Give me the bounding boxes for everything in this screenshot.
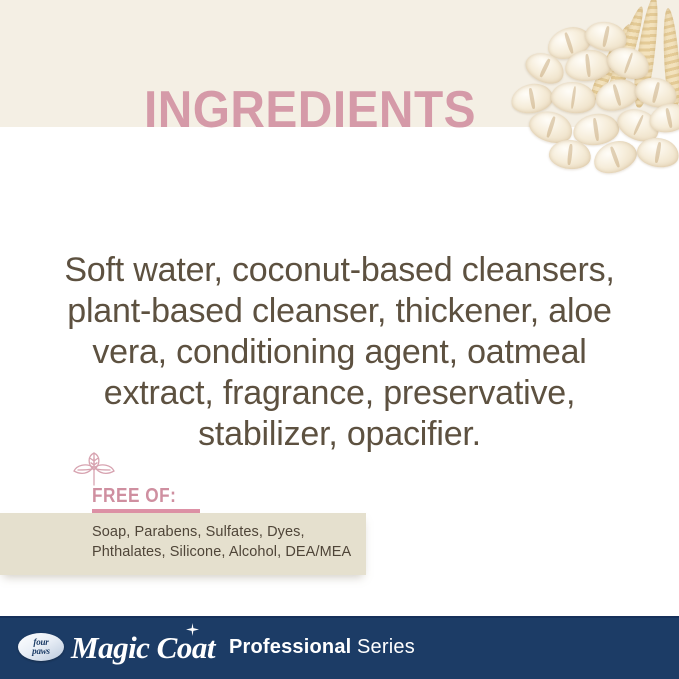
ingredients-body-text: Soft water, coconut-based cleansers, pla…: [34, 250, 645, 455]
four-paws-logo-text: four paws: [32, 638, 50, 656]
badge-line-two: paws: [32, 646, 50, 656]
series-label: Series: [357, 636, 415, 658]
professional-series-label: Professional Series: [229, 637, 415, 657]
four-paws-logo-badge: four paws: [18, 633, 64, 661]
free-of-heading: FREE OF:: [92, 485, 176, 508]
magic-coat-wordmark: Magic Coat: [71, 632, 215, 663]
brand-lockup: four paws Magic Coat Professional Series: [18, 626, 415, 668]
page-title: INGREDIENTS: [25, 84, 595, 136]
ingredients-infographic: INGREDIENTS Soft water, coconut-based cl…: [0, 0, 679, 679]
leaf-sprig-icon: [68, 440, 120, 486]
star-icon: [186, 623, 199, 636]
free-of-list: Soap, Parabens, Sulfates, Dyes, Phthalat…: [92, 522, 354, 562]
professional-label: Professional: [229, 636, 351, 658]
